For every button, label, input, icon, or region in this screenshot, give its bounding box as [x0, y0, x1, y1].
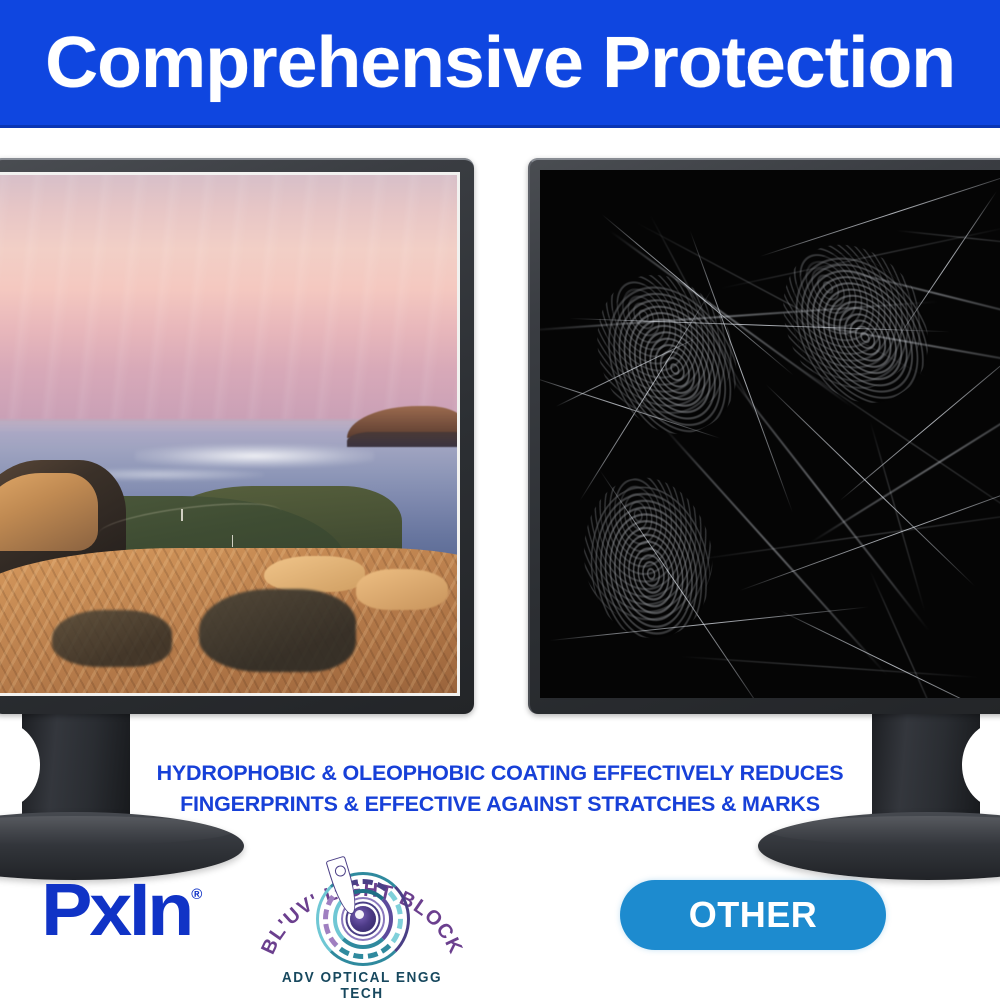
- badge-subtitle: ADV OPTICAL ENGG TECH: [264, 970, 460, 1000]
- screen-scratch: [680, 656, 979, 678]
- screen-scratch: [690, 507, 1000, 561]
- page-title: Comprehensive Protection: [45, 27, 955, 99]
- photo-fence-post-2: [232, 535, 234, 547]
- screen-scratch: [780, 610, 1000, 698]
- fingerprint-smudge: [579, 260, 760, 455]
- other-button[interactable]: OTHER: [620, 880, 886, 950]
- product-comparison-graphic: Comprehensive Protection: [0, 0, 1000, 1000]
- screen-scratch: [725, 370, 930, 631]
- photo-fence-post: [181, 509, 183, 521]
- brand-logo: PxIn ®: [44, 876, 202, 944]
- left-monitor-screen: [0, 172, 460, 696]
- fingerprint-smudge: [578, 477, 721, 647]
- brand-logo-wordmark: PxIn: [41, 876, 191, 944]
- screen-scratch: [760, 170, 1000, 257]
- photo-rock-shadow-2: [52, 610, 172, 667]
- tagline-line-2: FINGERPRINTS & EFFECTIVE AGAINST STRATCH…: [0, 789, 1000, 820]
- right-monitor-base: [758, 812, 1000, 880]
- registered-trademark-icon: ®: [191, 886, 202, 903]
- tagline-line-1: HYDROPHOBIC & OLEOPHOBIC COATING EFFECTI…: [0, 758, 1000, 789]
- photo-rock-highlight-2: [356, 569, 448, 610]
- photo-cliff-sunlit: [0, 473, 98, 551]
- fingerprint-smudge: [762, 227, 953, 427]
- badge-emblem: [316, 872, 410, 966]
- photo-rock-highlight-1: [264, 556, 365, 592]
- photo-rock-shadow-1: [199, 589, 355, 672]
- header-banner: Comprehensive Protection: [0, 0, 1000, 128]
- certification-badge: BL'UV' LIGHT BLOCK ADV OPTICAL ENGG TECH: [258, 840, 466, 998]
- tagline: HYDROPHOBIC & OLEOPHOBIC COATING EFFECTI…: [0, 758, 1000, 820]
- photo-sea-glint: [135, 444, 374, 467]
- photo-cloud-streaks: [0, 175, 457, 424]
- screen-scratch: [870, 570, 948, 698]
- screen-scratch: [870, 420, 926, 613]
- other-button-label: OTHER: [689, 897, 818, 933]
- right-monitor-screen: [540, 170, 1000, 698]
- screen-scratch: [550, 607, 868, 641]
